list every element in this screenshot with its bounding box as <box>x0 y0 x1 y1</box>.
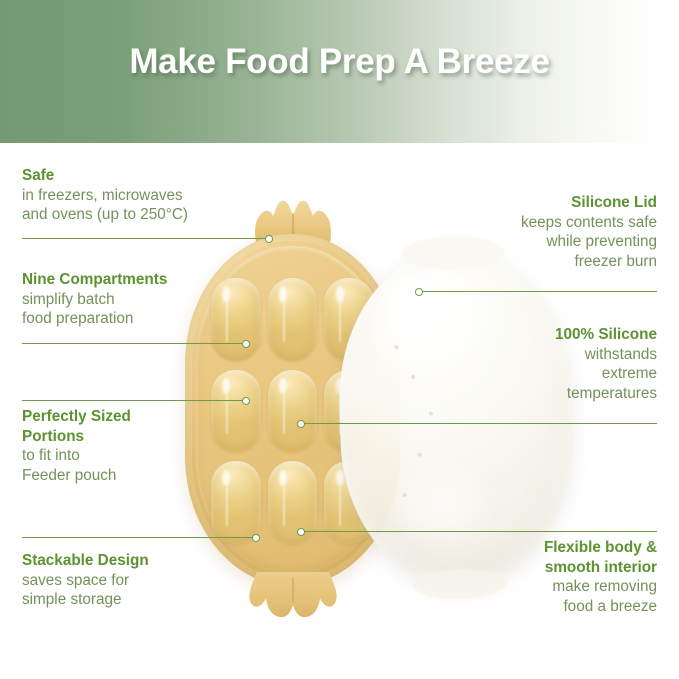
callout-nine-compartments: Nine Compartments simplify batchfood pre… <box>22 270 272 329</box>
lid-highlight-lower <box>392 458 496 547</box>
leader-line-silicone-lid <box>420 291 657 292</box>
header-banner: Make Food Prep A Breeze <box>0 0 679 143</box>
callout-100-silicone: 100% Silicone withstandsextremetemperatu… <box>407 325 657 403</box>
callout-safe-heading: Safe <box>22 166 272 186</box>
leader-dot-silicone-lid <box>415 288 423 296</box>
callout-nine-compartments-body: simplify batchfood preparation <box>22 290 272 329</box>
callout-flexible-body-body: make removingfood a breeze <box>407 577 657 616</box>
callout-flexible-body-heading: Flexible body &smooth interior <box>407 538 657 577</box>
tray-compartment <box>268 370 318 453</box>
callout-silicone-lid: Silicone Lid keeps contents safewhile pr… <box>407 193 657 271</box>
callout-perfectly-sized-portions: Perfectly SizedPortions to fit intoFeede… <box>22 407 272 485</box>
lid-dimple <box>428 412 432 416</box>
callout-stackable-design-body: saves space forsimple storage <box>22 571 272 610</box>
lid-dimple <box>418 452 422 456</box>
callout-stackable-design-heading: Stackable Design <box>22 551 272 571</box>
callout-flexible-body: Flexible body &smooth interior make remo… <box>407 538 657 616</box>
callout-silicone-lid-heading: Silicone Lid <box>407 193 657 213</box>
callout-safe: Safe in freezers, microwavesand ovens (u… <box>22 166 272 225</box>
page-title: Make Food Prep A Breeze <box>0 42 679 82</box>
callout-perfectly-sized-portions-body: to fit intoFeeder pouch <box>22 446 272 485</box>
leader-dot-stackable <box>252 534 260 542</box>
leader-line-stackable <box>22 537 255 538</box>
leader-dot-100-silicone <box>297 420 305 428</box>
leader-dot-perfectly-sized <box>242 397 250 405</box>
lid-dimple <box>402 493 406 497</box>
tray-compartment <box>268 278 318 361</box>
lid-dimple <box>394 345 398 349</box>
callout-safe-body: in freezers, microwavesand ovens (up to … <box>22 186 272 225</box>
leader-line-100-silicone <box>302 423 657 424</box>
callout-100-silicone-heading: 100% Silicone <box>407 325 657 345</box>
callout-nine-compartments-heading: Nine Compartments <box>22 270 272 290</box>
infographic-page: Make Food Prep A Breeze <box>0 0 679 679</box>
leader-line-perfectly-sized <box>22 400 245 401</box>
leader-dot-safe <box>265 235 273 243</box>
leader-dot-nine-compartments <box>242 340 250 348</box>
callout-silicone-lid-body: keeps contents safewhile preventingfreez… <box>407 213 657 272</box>
leader-dot-flexible-body <box>297 528 305 536</box>
leader-line-safe <box>22 238 268 239</box>
callout-100-silicone-body: withstandsextremetemperatures <box>407 345 657 404</box>
callout-stackable-design: Stackable Design saves space forsimple s… <box>22 551 272 610</box>
leader-line-nine-compartments <box>22 343 245 344</box>
leader-line-flexible-body <box>302 531 657 532</box>
callout-perfectly-sized-portions-heading: Perfectly SizedPortions <box>22 407 272 446</box>
